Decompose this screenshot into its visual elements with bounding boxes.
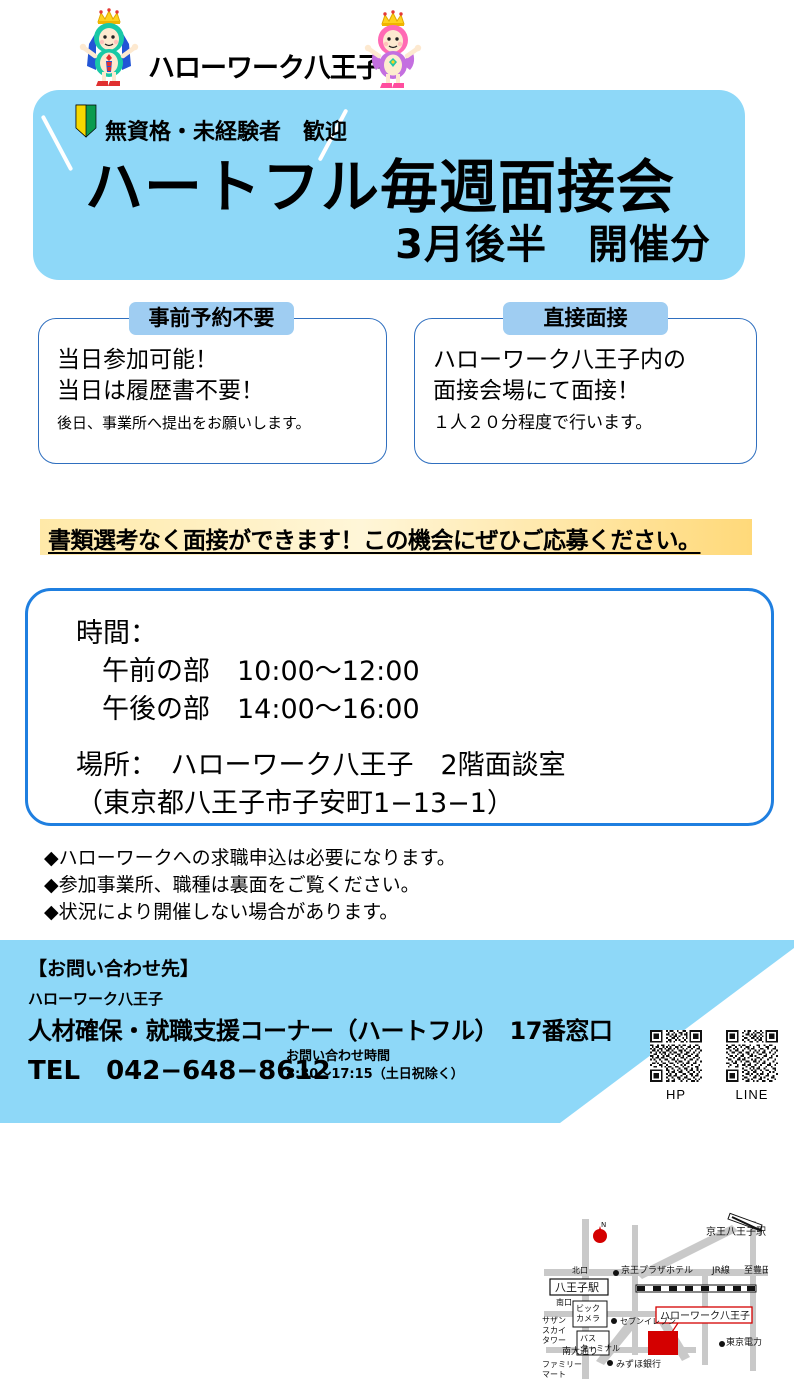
time-morning: 午前の部 10:00〜12:00 <box>76 653 566 691</box>
brand-name: ハローワーク八王子 <box>148 46 382 85</box>
qr-code-hp-icon[interactable] <box>650 1030 702 1082</box>
qr-code-group: HP <box>648 1030 780 1118</box>
card-body: ハローワーク八王子内の 面接会場にて面接！ １人２０分程度で行います。 <box>433 345 746 435</box>
svg-text:みずほ銀行: みずほ銀行 <box>616 1358 661 1370</box>
svg-text:N: N <box>601 1221 606 1229</box>
list-item: ◆ハローワークへの求職申込は必要になります。 <box>44 845 456 872</box>
qr-code-hp[interactable]: HP <box>648 1030 704 1102</box>
poster-page: ハローワーク八王子 <box>0 0 794 1123</box>
svg-text:スカイ: スカイ <box>542 1326 566 1335</box>
svg-text:マート: マート <box>542 1370 566 1379</box>
card-heading: 直接面接 <box>503 302 668 335</box>
contact-hours-value: 8:30〜17:15（土日祝除く） <box>286 1066 464 1084</box>
contact-tel-row: TEL 042−648−8612 お問い合わせ時間 8:30〜17:15（土日祝… <box>28 1048 612 1090</box>
highlight-text: 書類選考なく面接ができます！この機会にぜひご応募ください。 <box>48 521 701 555</box>
contact-department: 人材確保・就職支援コーナー（ハートフル） 17番窓口 <box>28 1014 612 1048</box>
feature-card-direct-interview: 直接面接 ハローワーク八王子内の 面接会場にて面接！ １人２０分程度で行います。 <box>414 318 757 464</box>
highlight-banner: 書類選考なく面接ができます！この機会にぜひご応募ください。 <box>40 519 752 555</box>
hero-subtitle: 3月後半 開催分 <box>395 212 711 270</box>
card-line: 面接会場にて面接！ <box>433 376 746 407</box>
hero-banner: 無資格・未経験者 歓迎 ハートフル毎週面接会 3月後半 開催分 <box>33 90 745 280</box>
list-item: ◆状況により開催しない場合があります。 <box>44 899 456 926</box>
card-note: １人２０分程度で行います。 <box>433 411 746 435</box>
contact-footer-content: 【お問い合わせ先】 ハローワーク八王子 人材確保・就職支援コーナー（ハートフル）… <box>28 954 612 1090</box>
mascot-header: ハローワーク八王子 <box>0 8 794 96</box>
contact-title: 【お問い合わせ先】 <box>28 954 612 984</box>
svg-text:北口: 北口 <box>572 1266 588 1275</box>
notes-list: ◆ハローワークへの求職申込は必要になります。 ◆参加事業所、職種は裏面をご覧くだ… <box>44 845 456 926</box>
contact-org: ハローワーク八王子 <box>28 984 612 1014</box>
svg-text:南大通り: 南大通り <box>562 1345 598 1357</box>
card-body: 当日参加可能！ 当日は履歴書不要！ 後日、事業所へ提出をお願いします。 <box>57 345 376 435</box>
location-map: N 八王子駅 ビック カメラ バス ターミナル ハローワーク八王子 <box>536 1211 768 1383</box>
hello-work-mascot-pink-icon <box>358 10 428 92</box>
svg-text:カメラ: カメラ <box>576 1314 600 1323</box>
place-label: 場所： ハローワーク八王子 2階面談室 <box>76 747 566 785</box>
svg-text:タワー: タワー <box>542 1336 566 1345</box>
svg-text:ファミリー: ファミリー <box>542 1360 582 1369</box>
svg-text:京王八王子駅: 京王八王子駅 <box>706 1225 766 1238</box>
hello-work-mascot-blue-icon <box>74 8 144 90</box>
place-address: （東京都八王子市子安町1−13−1） <box>76 785 566 823</box>
svg-text:バス: バス <box>580 1334 596 1343</box>
feature-card-no-reservation: 事前予約不要 当日参加可能！ 当日は履歴書不要！ 後日、事業所へ提出をお願いしま… <box>38 318 387 464</box>
qr-code-line-icon[interactable] <box>726 1030 778 1082</box>
decorative-slash-left <box>41 115 74 172</box>
qr-code-line-label: LINE <box>724 1087 780 1102</box>
svg-text:八王子駅: 八王子駅 <box>555 1281 599 1294</box>
svg-text:JR線: JR線 <box>711 1264 730 1276</box>
card-line: 当日参加可能！ <box>57 345 376 376</box>
time-label: 時間： <box>76 615 566 653</box>
svg-text:サザン: サザン <box>542 1316 566 1325</box>
svg-text:南口: 南口 <box>556 1297 572 1307</box>
contact-hours: お問い合わせ時間 8:30〜17:15（土日祝除く） <box>286 1048 464 1084</box>
svg-text:東京電力: 東京電力 <box>726 1336 762 1348</box>
time-afternoon: 午後の部 14:00〜16:00 <box>76 691 566 729</box>
contact-hours-label: お問い合わせ時間 <box>286 1048 464 1066</box>
svg-text:至豊田: 至豊田 <box>744 1264 768 1276</box>
card-line: ハローワーク八王子内の <box>433 345 746 376</box>
card-note: 後日、事業所へ提出をお願いします。 <box>57 411 376 435</box>
list-item: ◆参加事業所、職種は裏面をご覧ください。 <box>44 872 456 899</box>
svg-text:京王プラザホテル: 京王プラザホテル <box>621 1264 693 1276</box>
qr-code-line[interactable]: LINE <box>724 1030 780 1102</box>
card-line: 当日は履歴書不要！ <box>57 376 376 407</box>
qr-code-hp-label: HP <box>648 1087 704 1102</box>
beginner-leaf-mark-icon <box>75 104 97 138</box>
svg-text:セブンイレブン: セブンイレブン <box>620 1316 676 1326</box>
event-details-text: 時間： 午前の部 10:00〜12:00 午後の部 14:00〜16:00 場所… <box>76 615 566 823</box>
card-heading: 事前予約不要 <box>129 302 294 335</box>
event-details-box: 時間： 午前の部 10:00〜12:00 午後の部 14:00〜16:00 場所… <box>25 588 774 826</box>
svg-text:ビック: ビック <box>576 1304 600 1313</box>
